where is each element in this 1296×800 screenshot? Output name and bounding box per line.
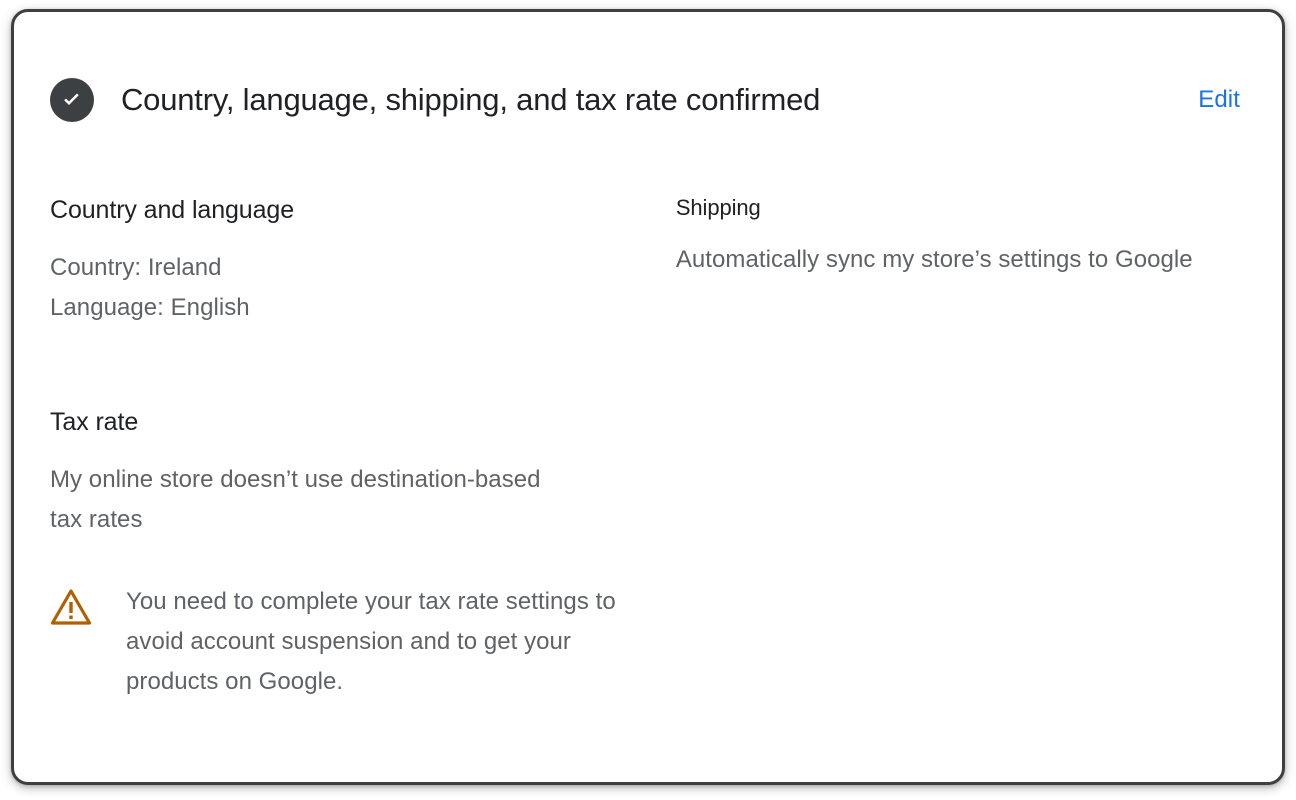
check-circle-icon (50, 78, 94, 122)
edit-link[interactable]: Edit (1194, 84, 1244, 116)
tax-rate-description: My online store doesn’t use destination-… (50, 460, 570, 540)
country-value: Country: Ireland (50, 248, 595, 288)
warning-triangle-icon (50, 588, 92, 626)
right-column: Shipping Automatically sync my store’s s… (666, 194, 1244, 702)
warning-message: You need to complete your tax rate setti… (126, 582, 616, 702)
confirmation-card: Country, language, shipping, and tax rat… (11, 9, 1285, 785)
left-column: Country and language Country: Ireland La… (50, 194, 666, 702)
shipping-heading: Shipping (676, 194, 1244, 222)
card-body: Country and language Country: Ireland La… (50, 194, 1244, 702)
page-title: Country, language, shipping, and tax rat… (121, 80, 820, 120)
country-language-heading: Country and language (50, 194, 642, 226)
shipping-description: Automatically sync my store’s settings t… (676, 240, 1221, 280)
screen: Country, language, shipping, and tax rat… (0, 0, 1296, 800)
language-value: Language: English (50, 288, 595, 328)
section-tax-rate: Tax rate My online store doesn’t use des… (50, 406, 642, 702)
country-language-values: Country: Ireland Language: English (50, 248, 595, 328)
tax-rate-heading: Tax rate (50, 406, 642, 438)
section-country-and-language: Country and language Country: Ireland La… (50, 194, 642, 328)
tax-rate-warning: You need to complete your tax rate setti… (50, 582, 642, 702)
section-shipping: Shipping Automatically sync my store’s s… (676, 194, 1244, 280)
card-header: Country, language, shipping, and tax rat… (50, 78, 1244, 122)
